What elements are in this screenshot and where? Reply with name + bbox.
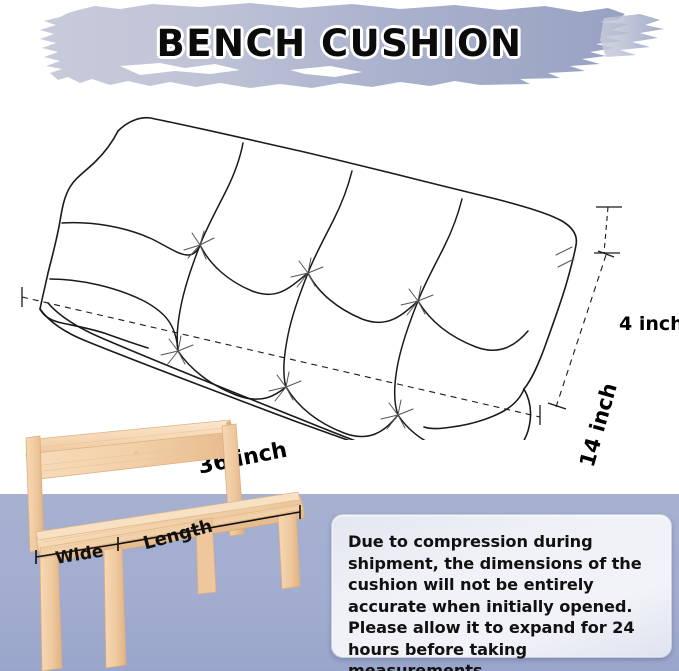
- title-banner: BENCH CUSHION: [0, 0, 679, 95]
- dimension-label-thickness: 4 inch: [619, 313, 679, 335]
- compression-note-box: Due to compression during shipment, the …: [331, 514, 672, 658]
- compression-note-text: Due to compression during shipment, the …: [348, 531, 657, 671]
- cushion-diagram: 36 inch 4 inch 14 inch: [0, 95, 679, 440]
- product-infographic: BENCH CUSHION: [0, 0, 679, 671]
- page-title: BENCH CUSHION: [0, 22, 679, 65]
- dimension-lines: [22, 207, 622, 425]
- cushion-line-art: [0, 95, 679, 440]
